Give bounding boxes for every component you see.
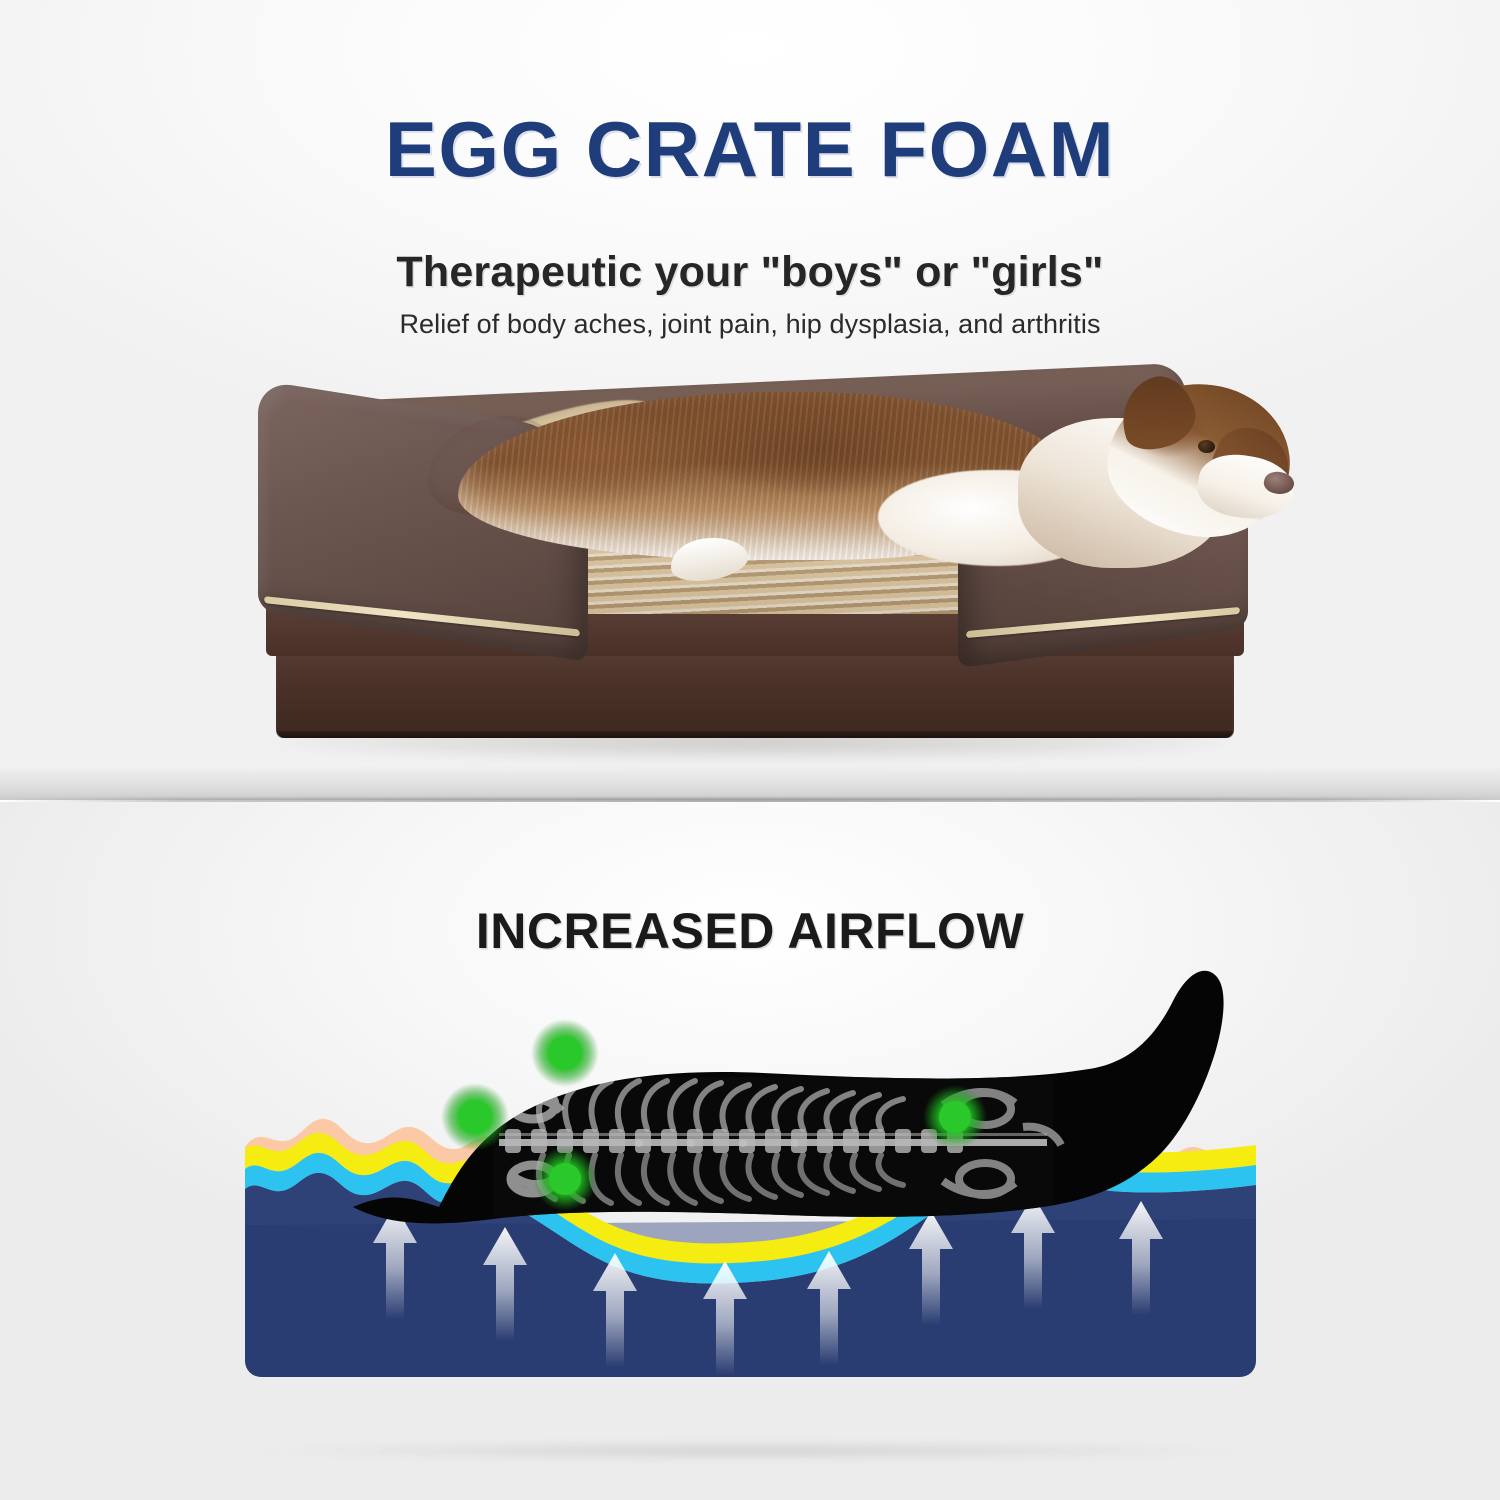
dog-photo bbox=[408, 378, 1248, 628]
subtitle-therapeutic: Therapeutic your "boys" or "girls" bbox=[0, 248, 1500, 297]
panel-increased-airflow: INCREASED AIRFLOW bbox=[0, 802, 1500, 1500]
airflow-title: INCREASED AIRFLOW bbox=[0, 902, 1500, 960]
airflow-cross-section-diagram bbox=[243, 957, 1258, 1457]
product-photo-dog-bed bbox=[258, 378, 1248, 768]
panel-egg-crate-foam: EGG CRATE FOAM Therapeutic your "boys" o… bbox=[0, 0, 1500, 800]
infographic-page: EGG CRATE FOAM Therapeutic your "boys" o… bbox=[0, 0, 1500, 1500]
page-title: EGG CRATE FOAM bbox=[0, 104, 1500, 195]
dog-silhouette bbox=[353, 971, 1224, 1224]
description-relief: Relief of body aches, joint pain, hip dy… bbox=[0, 309, 1500, 340]
